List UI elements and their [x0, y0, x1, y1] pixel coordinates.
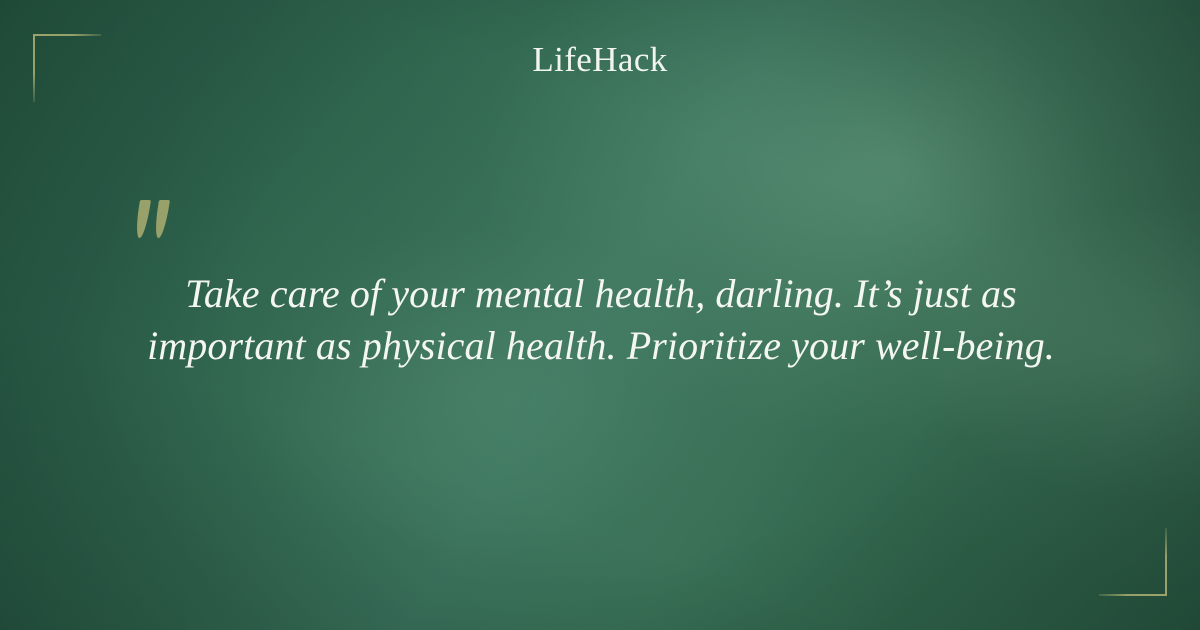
- double-quote-mark-icon: [133, 196, 193, 248]
- corner-bracket-bottom-right-icon: [1099, 528, 1167, 596]
- brand-logo: LifeHack: [0, 40, 1200, 80]
- quote-card: LifeHack Take care of your mental health…: [0, 0, 1200, 630]
- quote-mark-stroke-right: [153, 200, 170, 238]
- quote-mark-stroke-left: [134, 200, 151, 238]
- quote-block: Take care of your mental health, darling…: [118, 268, 1084, 372]
- corner-bracket-top-left-horizontal: [33, 34, 101, 36]
- corner-bracket-bottom-right-vertical: [1165, 528, 1167, 596]
- quote-text: Take care of your mental health, darling…: [118, 268, 1084, 372]
- corner-bracket-bottom-right-horizontal: [1099, 594, 1167, 596]
